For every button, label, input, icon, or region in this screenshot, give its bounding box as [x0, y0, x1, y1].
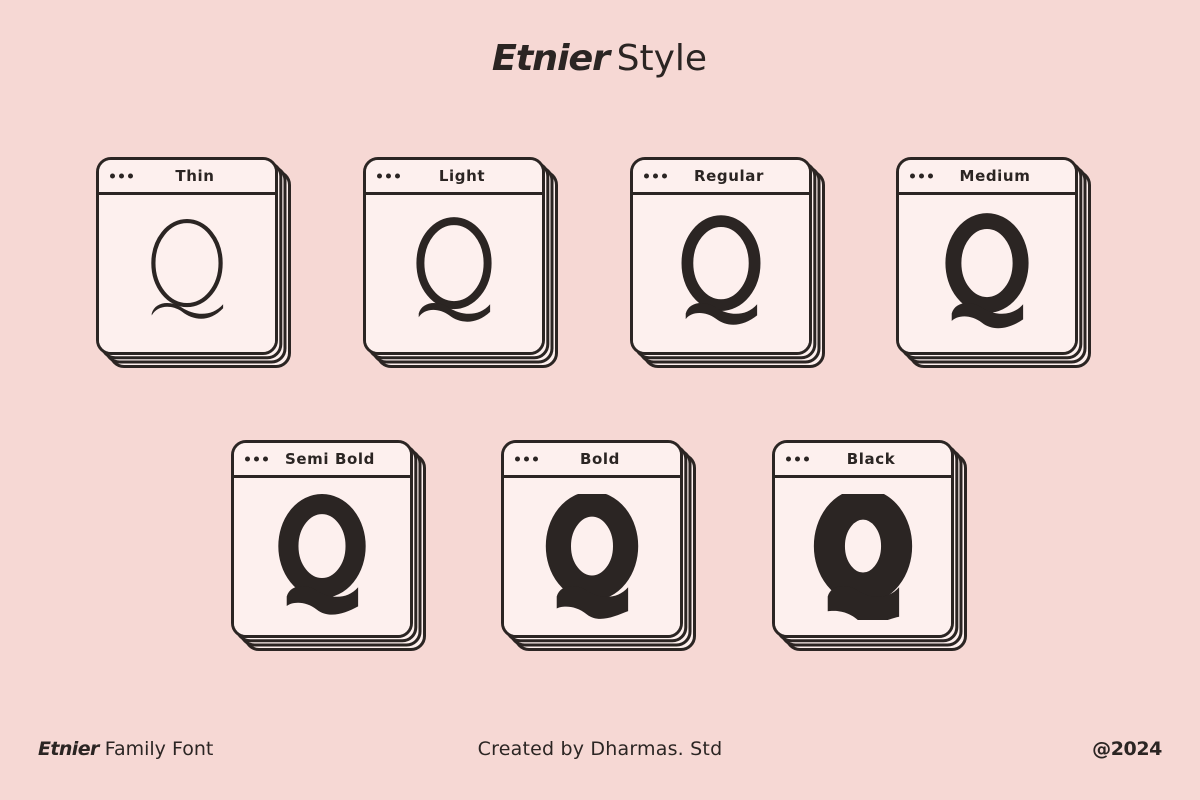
card-header: Regular	[633, 160, 809, 195]
card-header: Bold	[504, 443, 680, 478]
card-body	[366, 195, 542, 352]
dot	[786, 457, 791, 462]
dot	[653, 174, 658, 179]
dot	[910, 174, 915, 179]
three-dots-icon	[245, 457, 268, 462]
card-face[interactable]: Black	[772, 440, 954, 638]
dot	[515, 457, 520, 462]
dot	[533, 457, 538, 462]
glyph-q	[800, 494, 926, 620]
specimen-grid: ThinLightRegularMediumSemi BoldBoldBlack	[0, 0, 1200, 800]
card-body	[504, 478, 680, 635]
glyph-q	[391, 211, 517, 337]
weight-card-black[interactable]: Black	[772, 440, 968, 652]
card-face[interactable]: Regular	[630, 157, 812, 355]
card-body	[775, 478, 951, 635]
dot	[524, 457, 529, 462]
dot	[377, 174, 382, 179]
weight-card-light[interactable]: Light	[363, 157, 559, 369]
card-body	[234, 478, 410, 635]
weight-card-thin[interactable]: Thin	[96, 157, 292, 369]
card-face[interactable]: Thin	[96, 157, 278, 355]
card-header: Medium	[899, 160, 1075, 195]
card-face[interactable]: Semi Bold	[231, 440, 413, 638]
card-header: Black	[775, 443, 951, 478]
dot	[804, 457, 809, 462]
dot	[128, 174, 133, 179]
weight-card-semi-bold[interactable]: Semi Bold	[231, 440, 427, 652]
card-header: Thin	[99, 160, 275, 195]
dot	[254, 457, 259, 462]
card-header: Semi Bold	[234, 443, 410, 478]
footer: EtnierFamily Font Created by Dharmas. St…	[0, 738, 1200, 772]
three-dots-icon	[786, 457, 809, 462]
dot	[662, 174, 667, 179]
three-dots-icon	[910, 174, 933, 179]
dot	[119, 174, 124, 179]
card-header: Light	[366, 160, 542, 195]
glyph-q	[124, 211, 250, 337]
three-dots-icon	[377, 174, 400, 179]
glyph-q	[924, 211, 1050, 337]
three-dots-icon	[644, 174, 667, 179]
dot	[928, 174, 933, 179]
card-body	[633, 195, 809, 352]
glyph-q	[658, 211, 784, 337]
weight-card-medium[interactable]: Medium	[896, 157, 1092, 369]
dot	[110, 174, 115, 179]
footer-credit: Created by Dharmas. Std	[0, 738, 1200, 760]
weight-card-regular[interactable]: Regular	[630, 157, 826, 369]
dot	[795, 457, 800, 462]
dot	[919, 174, 924, 179]
dot	[245, 457, 250, 462]
dot	[386, 174, 391, 179]
glyph-q	[259, 494, 385, 620]
card-body	[99, 195, 275, 352]
weight-card-bold[interactable]: Bold	[501, 440, 697, 652]
dot	[395, 174, 400, 179]
dot	[644, 174, 649, 179]
dot	[263, 457, 268, 462]
card-face[interactable]: Bold	[501, 440, 683, 638]
three-dots-icon	[515, 457, 538, 462]
card-face[interactable]: Medium	[896, 157, 1078, 355]
three-dots-icon	[110, 174, 133, 179]
footer-copyright: @2024	[1092, 738, 1162, 760]
glyph-q	[529, 494, 655, 620]
card-face[interactable]: Light	[363, 157, 545, 355]
card-body	[899, 195, 1075, 352]
